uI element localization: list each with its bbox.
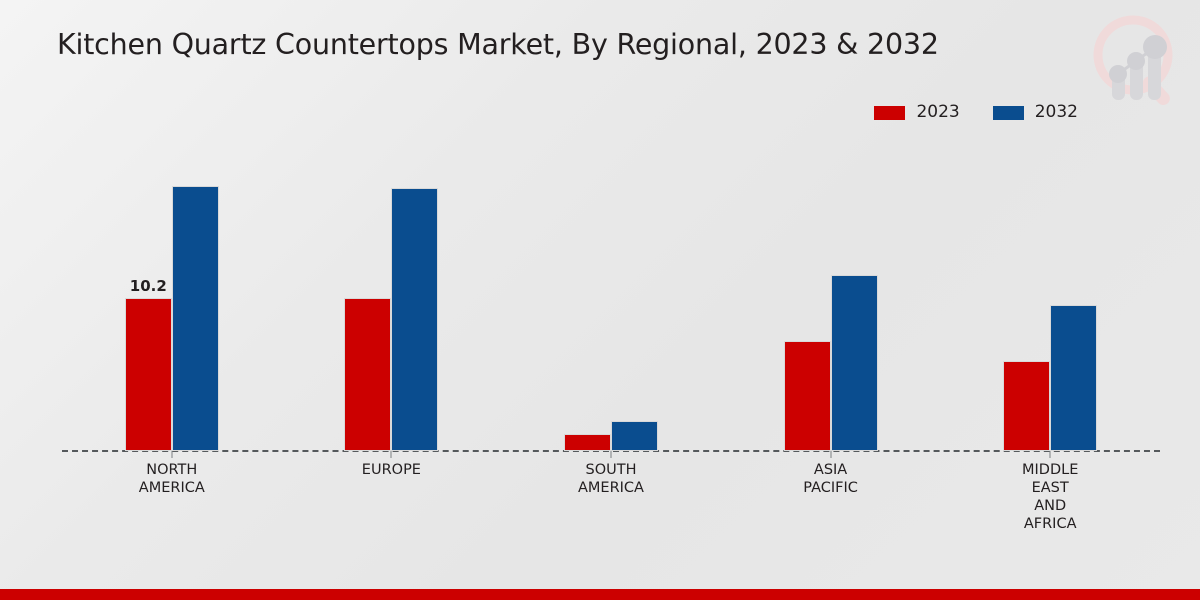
x-axis-category-label: EUROPE [362, 461, 421, 479]
x-axis-tick [1050, 451, 1051, 458]
bar-group: SOUTHAMERICA [501, 150, 721, 451]
bar-pair [344, 150, 438, 451]
x-axis-category-label: MIDDLEEASTANDAFRICA [1022, 461, 1078, 533]
x-axis-category-label: SOUTHAMERICA [578, 461, 644, 497]
legend-label-2023: 2023 [916, 104, 959, 121]
bar-2032[interactable] [172, 186, 219, 451]
legend-label-2032: 2032 [1035, 104, 1078, 121]
bar-2023[interactable] [125, 298, 172, 452]
legend-item-2023[interactable]: 2023 [874, 104, 959, 121]
bar-2023[interactable] [784, 341, 831, 451]
legend-swatch-icon-2023 [874, 106, 905, 120]
bar-pair [1003, 150, 1097, 451]
magnifier-icon [1098, 20, 1173, 108]
bar-wrapper [831, 275, 878, 451]
watermark-logo [1080, 8, 1192, 120]
bar-wrapper [611, 421, 658, 451]
x-axis-tick [171, 451, 172, 458]
bar-wrapper [1003, 361, 1050, 451]
footer-accent-bar [0, 589, 1200, 600]
bar-2023[interactable] [1003, 361, 1050, 451]
x-axis-tick [610, 451, 611, 458]
x-axis-tick [830, 451, 831, 458]
chart-container: Kitchen Quartz Countertops Market, By Re… [0, 0, 1200, 600]
bar-group: ASIAPACIFIC [721, 150, 941, 451]
bar-pair [784, 150, 878, 451]
legend-item-2032[interactable]: 2032 [993, 104, 1078, 121]
bar-wrapper [172, 186, 219, 451]
chart-legend: 2023 2032 [874, 104, 1078, 121]
bar-2032[interactable] [611, 421, 658, 451]
bar-chart-icon [1112, 46, 1161, 100]
bar-value-label: 10.2 [130, 277, 167, 295]
x-axis-category-label: ASIAPACIFIC [803, 461, 858, 497]
x-axis-tick [391, 451, 392, 458]
bar-wrapper [564, 434, 611, 451]
bar-pair: 10.2 [125, 150, 219, 451]
bar-wrapper: 10.2 [125, 298, 172, 452]
bar-group: EUROPE [282, 150, 502, 451]
bar-wrapper [1050, 305, 1097, 451]
chart-title: Kitchen Quartz Countertops Market, By Re… [57, 28, 939, 61]
bar-group: MIDDLEEASTANDAFRICA [940, 150, 1160, 451]
plot-area: 10.2NORTHAMERICAEUROPESOUTHAMERICAASIAPA… [62, 150, 1160, 451]
bar-wrapper [784, 341, 831, 451]
bar-2023[interactable] [344, 298, 391, 452]
legend-swatch-icon-2032 [993, 106, 1024, 120]
bar-2032[interactable] [1050, 305, 1097, 451]
bar-2032[interactable] [391, 188, 438, 451]
bar-wrapper [344, 298, 391, 452]
x-axis-category-label: NORTHAMERICA [139, 461, 205, 497]
bar-2032[interactable] [831, 275, 878, 451]
bar-pair [564, 150, 658, 451]
bar-group: 10.2NORTHAMERICA [62, 150, 282, 451]
bar-2023[interactable] [564, 434, 611, 451]
bar-wrapper [391, 188, 438, 451]
trend-dots-icon [1109, 35, 1167, 83]
